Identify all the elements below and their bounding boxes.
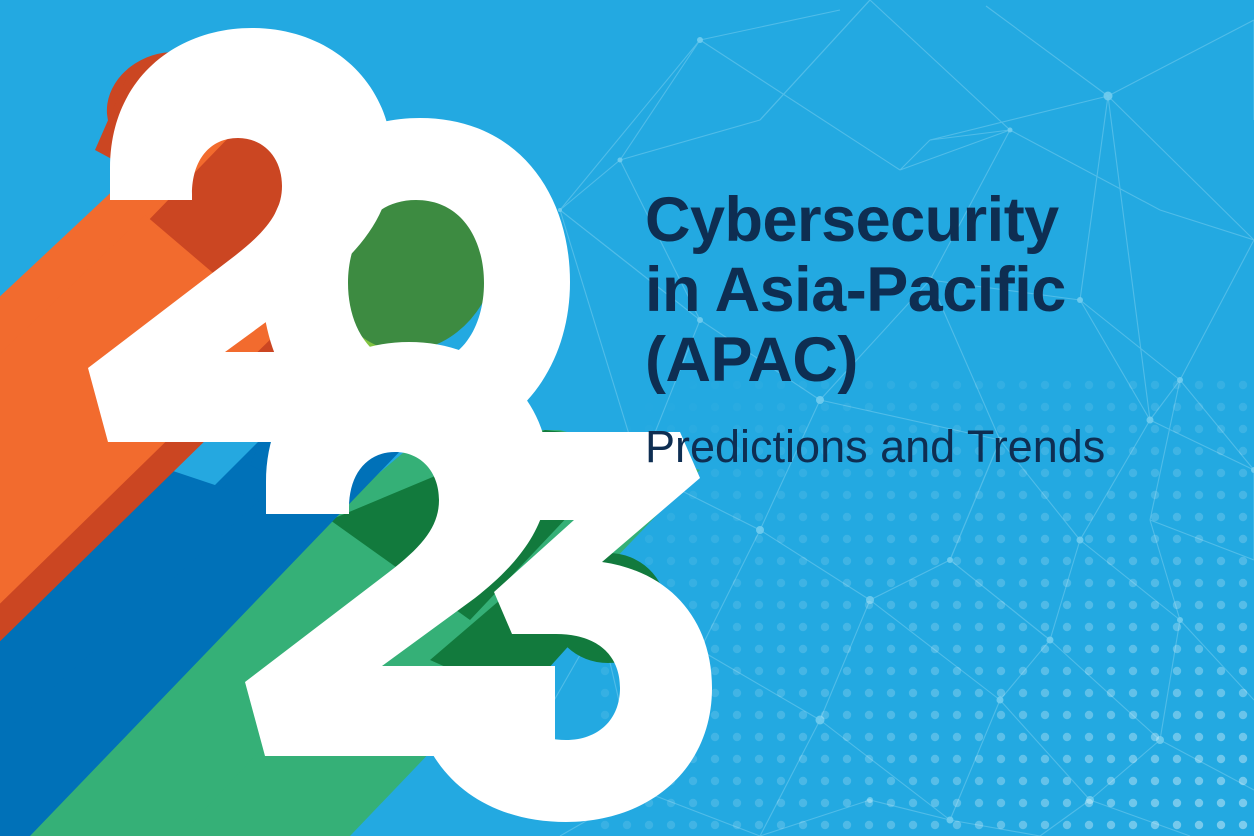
poster-canvas: Cybersecurity in Asia-Pacific (APAC) Pre… <box>0 0 1254 836</box>
title-block: Cybersecurity in Asia-Pacific (APAC) Pre… <box>645 186 1225 471</box>
page-title: Cybersecurity in Asia-Pacific (APAC) <box>645 186 1225 396</box>
page-subtitle: Predictions and Trends <box>645 422 1225 472</box>
